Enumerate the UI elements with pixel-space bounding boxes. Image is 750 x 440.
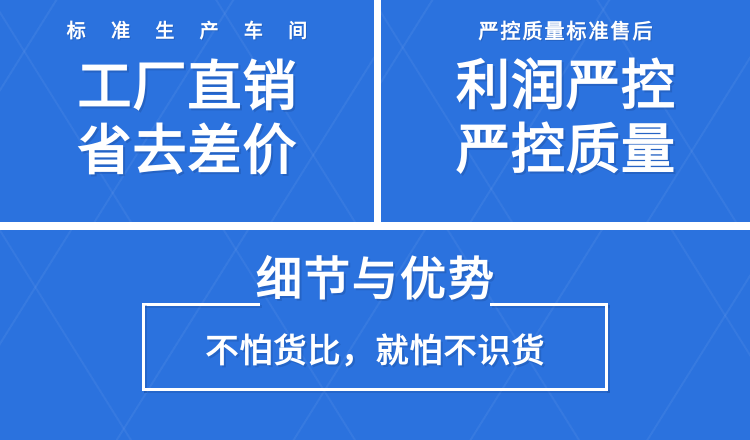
panel-quality-control: 严控质量标准售后 利润严控 严控质量 [381, 0, 750, 222]
panel-details-advantages: 细节与优势 不怕货比，就怕不识货 [0, 230, 750, 440]
panel-details-advantages-subtitle: 不怕货比，就怕不识货 [0, 334, 750, 367]
panel-quality-control-content: 严控质量标准售后 利润严控 严控质量 [381, 0, 750, 222]
panel-quality-control-headline-line2: 严控质量 [455, 120, 676, 180]
frame-bottom-border [142, 388, 608, 391]
panel-quality-control-headline-line1: 利润严控 [455, 56, 676, 116]
panel-factory-direct-content: 标 准 生 产 车 间 工厂直销 省去差价 [0, 0, 374, 222]
panel-factory-direct-headline-line1: 工厂直销 [77, 57, 298, 117]
panel-quality-control-eyebrow: 严控质量标准售后 [477, 22, 655, 42]
panel-factory-direct-headline-line2: 省去差价 [77, 121, 298, 181]
panel-details-advantages-content: 细节与优势 不怕货比，就怕不识货 [0, 230, 750, 440]
frame-top-left-segment [142, 303, 260, 306]
panel-details-advantages-title: 细节与优势 [0, 256, 750, 302]
panel-factory-direct-eyebrow: 标 准 生 产 车 间 [57, 22, 317, 41]
frame-top-right-segment [490, 303, 608, 306]
promo-banner: 标 准 生 产 车 间 工厂直销 省去差价 严控质量标准售后 利润严控 严控质量 [0, 0, 750, 440]
panel-factory-direct: 标 准 生 产 车 间 工厂直销 省去差价 [0, 0, 374, 222]
